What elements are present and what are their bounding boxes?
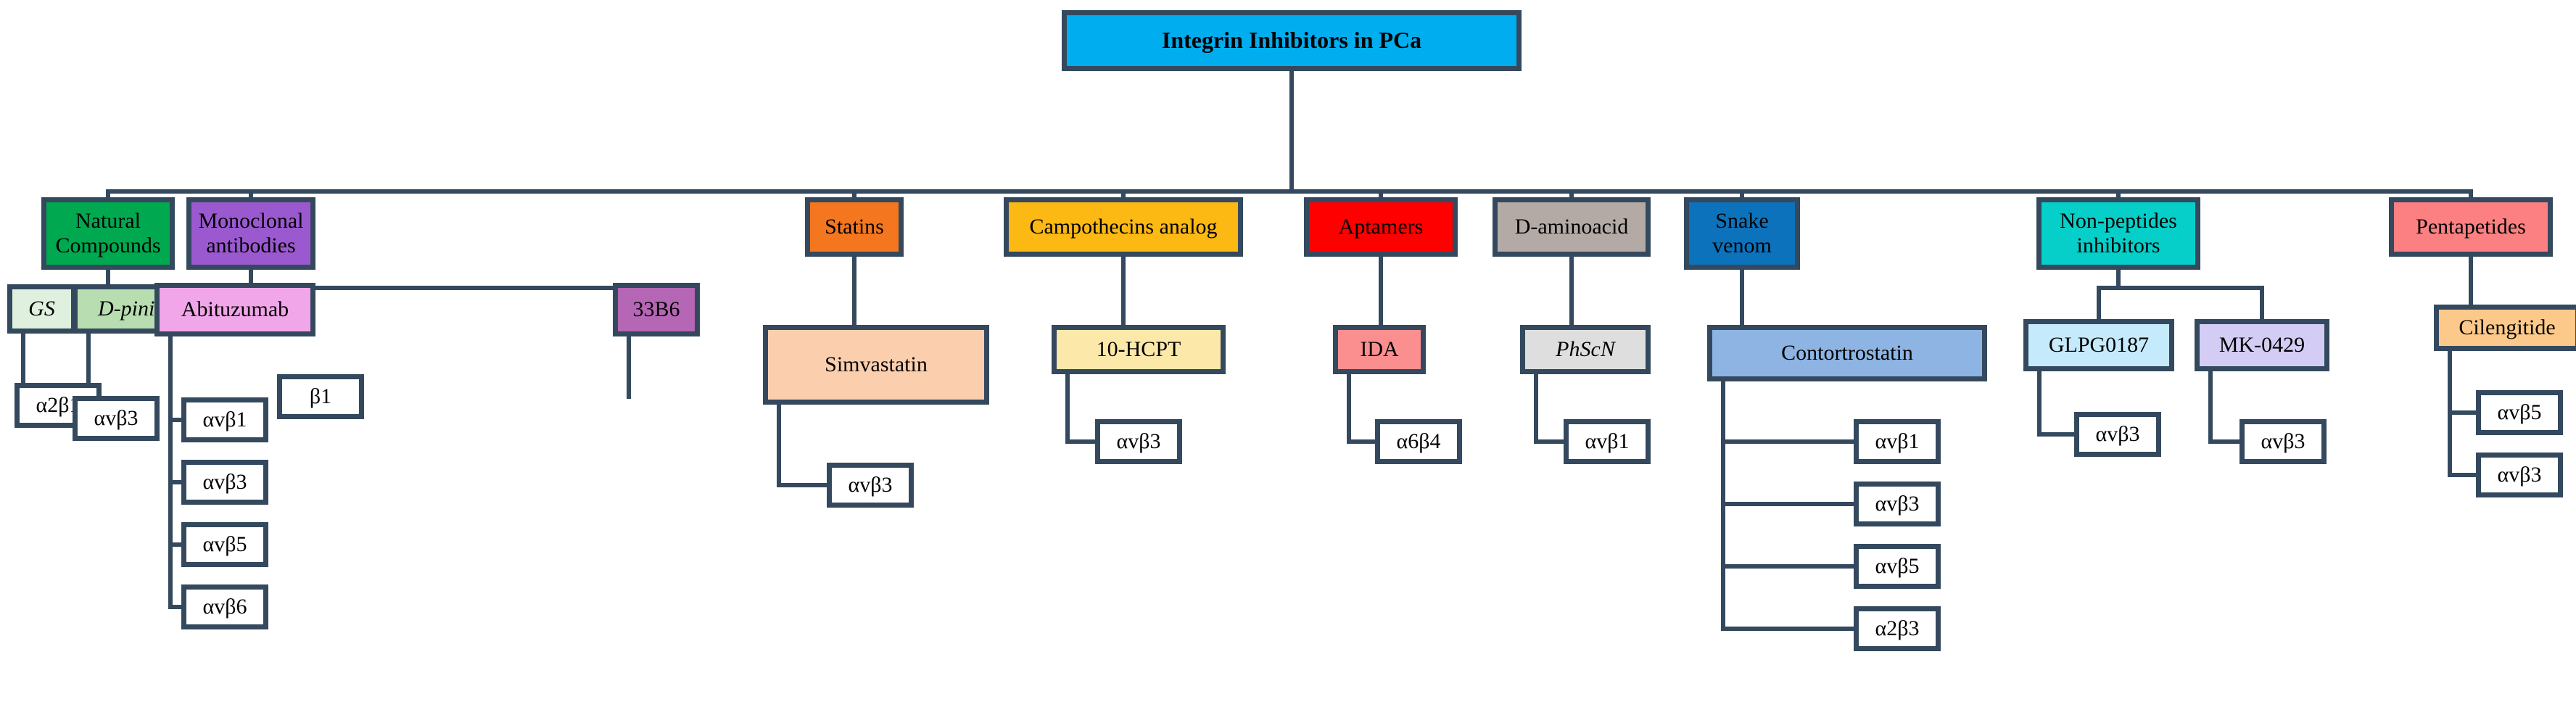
integrin-target-phscn-0-label: αvβ1 (1581, 429, 1634, 454)
integrin-target-contortrostatin-3-label: α2β3 (1871, 616, 1924, 641)
compound-glpg0187[interactable]: GLPG0187 (2023, 319, 2174, 371)
flowchart-canvas: Integrin Inhibitors in PCaNaturalCompoun… (0, 0, 2576, 723)
leaf-connector-mk-0429-0 (2208, 439, 2242, 444)
edge-snake-venom-contortrostatin (1740, 270, 1744, 329)
integrin-target-33b6-0[interactable]: β1 (277, 374, 364, 419)
integrin-target-contortrostatin-0[interactable]: αvβ1 (1854, 419, 1941, 464)
branch-snake-venom[interactable]: Snakevenom (1684, 197, 1800, 270)
integrin-target-abituzumab-2-label: αvβ5 (199, 532, 252, 557)
edge-aptamers-ida (1379, 257, 1383, 329)
integrin-target-abituzumab-0[interactable]: αvβ1 (181, 397, 268, 442)
leaf-connector-10-hcpt-0 (1065, 439, 1097, 444)
integrin-target-contortrostatin-2[interactable]: αvβ5 (1854, 544, 1941, 589)
compound-10-hcpt-label: 10-HCPT (1092, 337, 1186, 362)
compound-ida[interactable]: IDA (1333, 325, 1426, 374)
leaf-spine-10-hcpt (1065, 371, 1070, 444)
branch-campothecins-analog-label: Campothecins analog (1025, 215, 1221, 239)
integrin-target-abituzumab-2[interactable]: αvβ5 (181, 522, 268, 567)
edge-non-peptides-inhibitors-mk-0429 (2260, 286, 2264, 323)
compound-gs-label: GS (24, 297, 59, 321)
compound-simvastatin-label: Simvastatin (820, 352, 932, 377)
branch-aptamers[interactable]: Aptamers (1304, 197, 1458, 257)
branch-bracket-non-peptides-inhibitors (2097, 286, 2264, 290)
branch-snake-venom-label: Snakevenom (1708, 209, 1776, 257)
branch-non-peptides-inhibitors[interactable]: Non-peptidesinhibitors (2036, 197, 2200, 270)
integrin-target-abituzumab-3[interactable]: αvβ6 (181, 584, 268, 629)
edge-campothecins-analog-10-hcpt (1121, 257, 1126, 329)
compound-contortrostatin-label: Contortrostatin (1777, 341, 1917, 365)
integrin-target-simvastatin-0-label: αvβ3 (844, 473, 897, 497)
leaf-connector-simvastatin-0 (777, 483, 829, 487)
compound-abituzumab[interactable]: Abituzumab (154, 283, 315, 336)
integrin-target-contortrostatin-3[interactable]: α2β3 (1854, 606, 1941, 651)
integrin-target-abituzumab-3-label: αvβ6 (199, 595, 252, 619)
leaf-spine-phscn (1534, 371, 1538, 444)
branch-statins[interactable]: Statins (805, 197, 904, 257)
integrin-target-ida-0-label: α6β4 (1392, 429, 1445, 454)
root-node[interactable]: Integrin Inhibitors in PCa (1062, 10, 1522, 71)
branch-statins-label: Statins (820, 215, 888, 239)
compound-mk-0429-label: MK-0429 (2215, 333, 2309, 358)
integrin-target-10-hcpt-0-label: αvβ3 (1112, 429, 1165, 454)
edge-pentapetides-cilengitide (2469, 257, 2473, 309)
compound-glpg0187-label: GLPG0187 (2044, 333, 2153, 358)
integrin-target-contortrostatin-2-label: αvβ5 (1871, 554, 1924, 579)
leaf-connector-contortrostatin-1 (1721, 502, 1856, 506)
branch-d-aminoacid-label: D-aminoacid (1511, 215, 1633, 239)
integrin-target-mk-0429-0-label: αvβ3 (2257, 429, 2310, 454)
branch-monoclonal-antibodies[interactable]: Monoclonalantibodies (186, 197, 315, 270)
compound-phscn-label: PhScN (1551, 337, 1619, 362)
branch-natural-compounds[interactable]: NaturalCompounds (41, 197, 175, 270)
integrin-target-33b6-0-label: β1 (305, 384, 336, 409)
root-stem (1289, 71, 1294, 194)
leaf-spine-simvastatin (777, 402, 781, 487)
integrin-target-ida-0[interactable]: α6β4 (1375, 419, 1462, 464)
edge-non-peptides-inhibitors-glpg0187 (2097, 286, 2101, 323)
leaf-connector-contortrostatin-0 (1721, 439, 1856, 444)
branch-non-peptides-inhibitors-label: Non-peptidesinhibitors (2055, 209, 2181, 257)
leaf-spine-glpg0187 (2037, 368, 2042, 437)
integrin-target-mk-0429-0[interactable]: αvβ3 (2239, 419, 2327, 464)
integrin-target-d-pinitol-0[interactable]: αvβ3 (73, 396, 160, 441)
branch-pentapetides-label: Pentapetides (2411, 215, 2530, 239)
root-node-label: Integrin Inhibitors in PCa (1157, 28, 1426, 54)
leaf-spine-mk-0429 (2208, 368, 2213, 444)
edge-d-aminoacid-phscn (1569, 257, 1574, 329)
integrin-target-cilengitide-0[interactable]: αvβ5 (2476, 390, 2563, 435)
integrin-target-contortrostatin-1[interactable]: αvβ3 (1854, 482, 1941, 526)
compound-contortrostatin[interactable]: Contortrostatin (1707, 325, 1987, 381)
integrin-target-abituzumab-1[interactable]: αvβ3 (181, 460, 268, 505)
integrin-target-cilengitide-1[interactable]: αvβ3 (2476, 453, 2563, 497)
integrin-target-10-hcpt-0[interactable]: αvβ3 (1095, 419, 1182, 464)
branch-d-aminoacid[interactable]: D-aminoacid (1493, 197, 1651, 257)
integrin-target-simvastatin-0[interactable]: αvβ3 (827, 463, 914, 508)
leaf-connector-cilengitide-0 (2448, 410, 2478, 415)
compound-mk-0429[interactable]: MK-0429 (2195, 319, 2329, 371)
integrin-target-abituzumab-0-label: αvβ1 (199, 408, 252, 432)
leaf-connector-glpg0187-0 (2037, 432, 2076, 437)
branch-pentapetides[interactable]: Pentapetides (2389, 197, 2553, 257)
branch-natural-compounds-label: NaturalCompounds (51, 209, 165, 257)
compound-10-hcpt[interactable]: 10-HCPT (1052, 325, 1226, 374)
compound-simvastatin[interactable]: Simvastatin (763, 325, 989, 405)
branch-monoclonal-antibodies-label: Monoclonalantibodies (194, 209, 308, 257)
leaf-connector-phscn-0 (1534, 439, 1566, 444)
leaf-connector-contortrostatin-2 (1721, 564, 1856, 569)
compound-gs[interactable]: GS (7, 284, 76, 334)
integrin-target-glpg0187-0-label: αvβ3 (2092, 422, 2144, 447)
leaf-spine-33b6 (627, 334, 631, 399)
branch-aptamers-label: Aptamers (1334, 215, 1428, 239)
integrin-target-glpg0187-0[interactable]: αvβ3 (2074, 412, 2161, 457)
integrin-target-abituzumab-1-label: αvβ3 (199, 470, 252, 495)
leaf-spine-ida (1347, 371, 1351, 444)
compound-33b6-label: 33B6 (628, 297, 684, 322)
integrin-target-cilengitide-1-label: αvβ3 (2493, 463, 2546, 487)
compound-cilengitide[interactable]: Cilengitide (2434, 305, 2576, 351)
integrin-target-d-pinitol-0-label: αvβ3 (90, 406, 143, 431)
integrin-target-contortrostatin-1-label: αvβ3 (1871, 492, 1924, 516)
compound-phscn[interactable]: PhScN (1520, 325, 1651, 374)
leaf-connector-ida-0 (1347, 439, 1377, 444)
integrin-target-phscn-0[interactable]: αvβ1 (1564, 419, 1651, 464)
compound-cilengitide-label: Cilengitide (2454, 315, 2559, 340)
edge-statins-simvastatin (852, 257, 856, 329)
branch-campothecins-analog[interactable]: Campothecins analog (1004, 197, 1243, 257)
compound-ida-label: IDA (1355, 337, 1403, 362)
leaf-connector-cilengitide-1 (2448, 473, 2478, 477)
integrin-target-cilengitide-0-label: αvβ5 (2493, 400, 2546, 425)
integrin-target-contortrostatin-0-label: αvβ1 (1871, 429, 1924, 454)
compound-33b6[interactable]: 33B6 (613, 283, 700, 336)
leaf-spine-abituzumab (168, 334, 173, 609)
compound-abituzumab-label: Abituzumab (177, 297, 293, 322)
leaf-connector-contortrostatin-3 (1721, 627, 1856, 631)
